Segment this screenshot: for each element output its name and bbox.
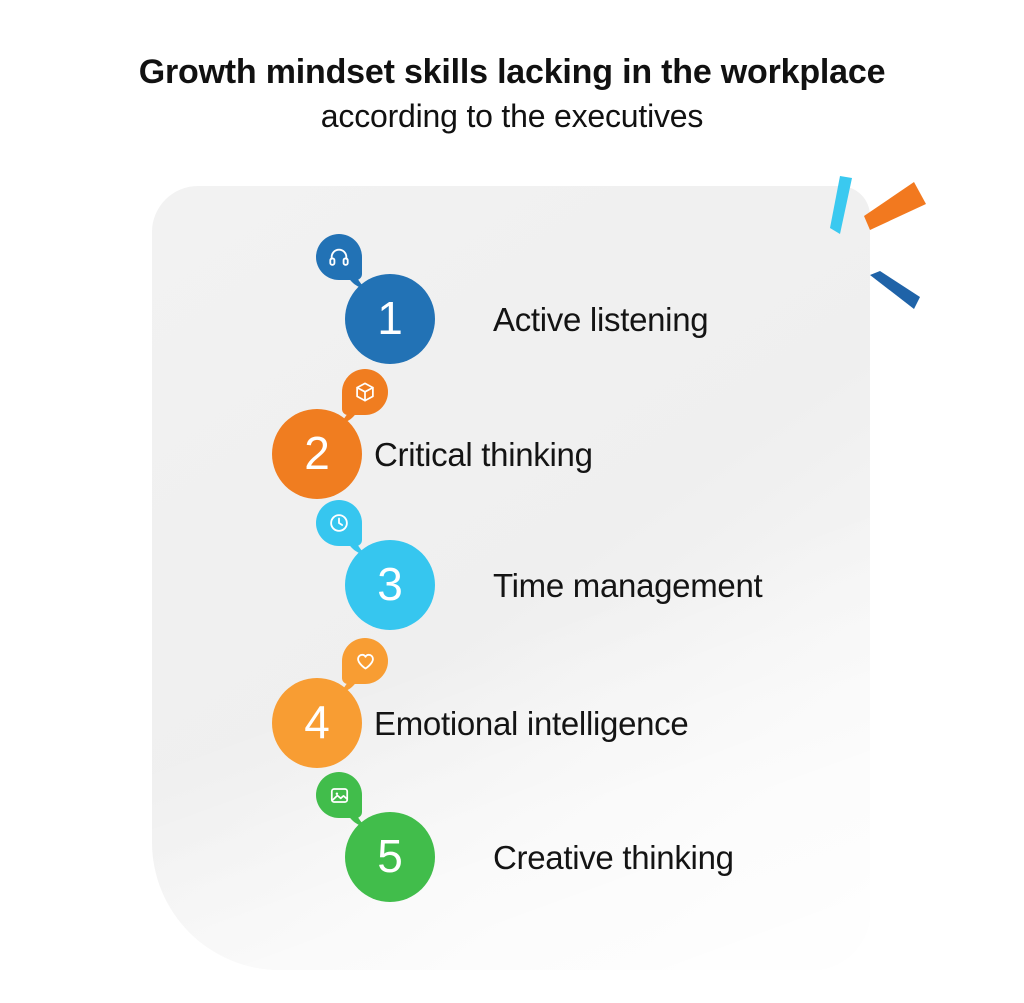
item-label: Critical thinking	[374, 438, 593, 471]
list-item[interactable]: 3 Time management	[345, 540, 762, 630]
bubble-group: 3	[345, 540, 435, 630]
item-number: 3	[377, 561, 403, 607]
page-title: Growth mindset skills lacking in the wor…	[0, 50, 1024, 138]
orange-dash-icon	[864, 182, 930, 238]
cube-icon	[342, 369, 388, 415]
heart-icon	[342, 638, 388, 684]
item-label: Creative thinking	[493, 841, 734, 874]
title-line-primary: Growth mindset skills lacking in the wor…	[0, 50, 1024, 94]
list-item[interactable]: 5 Creative thinking	[345, 812, 734, 902]
headphones-icon	[316, 234, 362, 280]
list-item[interactable]: 1 Active listening	[345, 274, 708, 364]
infographic-canvas: Growth mindset skills lacking in the wor…	[0, 0, 1024, 1003]
bubble-group: 5	[345, 812, 435, 902]
list-item[interactable]: 2 Critical thinking	[272, 409, 593, 499]
item-number: 1	[377, 295, 403, 341]
item-label: Active listening	[493, 303, 708, 336]
clock-icon	[316, 500, 362, 546]
item-label: Emotional intelligence	[374, 707, 688, 740]
bubble-group: 2	[272, 409, 362, 499]
bubble-group: 4	[272, 678, 362, 768]
title-line-secondary: according to the executives	[0, 94, 1024, 138]
skills-list: 1 Active listening 2	[0, 0, 1024, 1003]
item-number: 5	[377, 833, 403, 879]
item-label: Time management	[493, 569, 762, 602]
bubble-group: 1	[345, 274, 435, 364]
list-item[interactable]: 4 Emotional intelligence	[272, 678, 688, 768]
image-icon	[316, 772, 362, 818]
item-number: 4	[304, 699, 330, 745]
cyan-dash-icon	[826, 176, 866, 238]
item-number: 2	[304, 430, 330, 476]
blue-dash-icon	[866, 271, 924, 315]
